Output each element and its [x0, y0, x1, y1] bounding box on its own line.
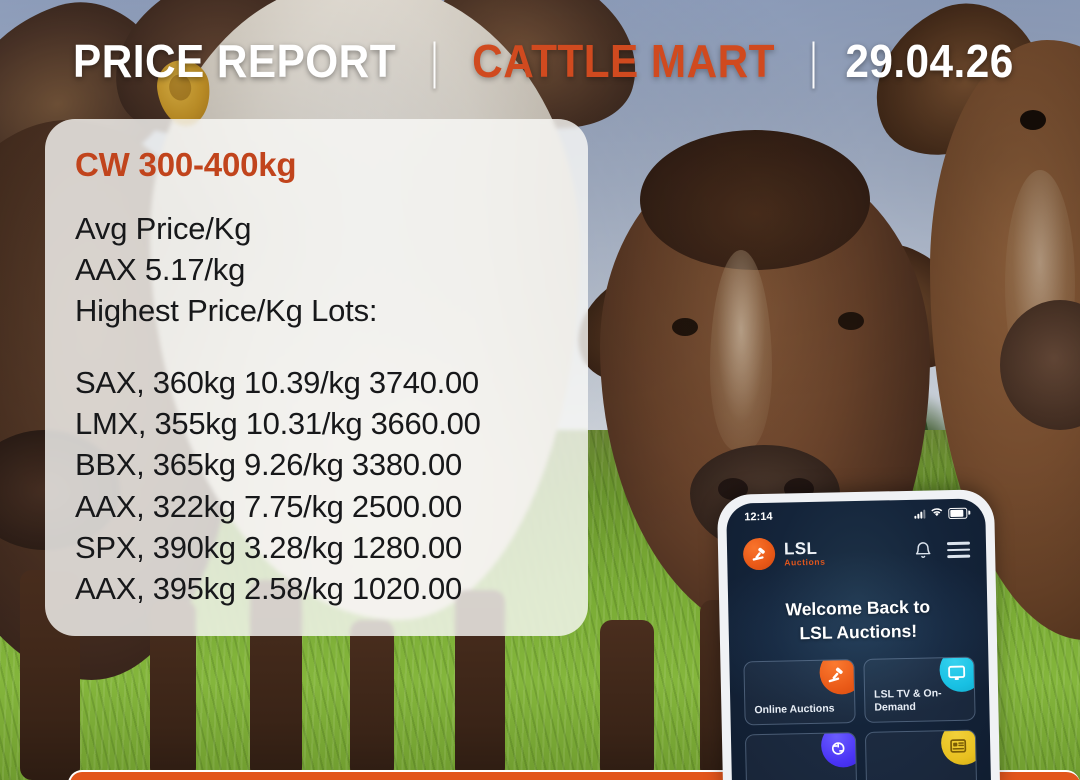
tile-label: LSL TV & On-Demand [874, 686, 969, 714]
summary-line-avg-price: Avg Price/Kg [75, 209, 554, 250]
phone-status-bar: 12:14 [726, 502, 985, 527]
lot-row: AAX, 322kg 7.75/kg 2500.00 [75, 486, 554, 527]
tile-livestock[interactable] [745, 732, 857, 780]
summary-line-highest-lots: Highest Price/Kg Lots: [75, 291, 554, 332]
status-time: 12:14 [744, 511, 772, 524]
signal-bars-icon [914, 509, 925, 518]
price-report-graphic: PRICE REPORT | CATTLE MART | 29.04.26 CW… [0, 0, 1080, 780]
tile-lsl-tv[interactable]: LSL TV & On-Demand [863, 657, 975, 723]
tile-news[interactable] [865, 730, 977, 780]
card-title: CW 300-400kg [75, 147, 554, 183]
center-cow-poll [640, 130, 870, 270]
app-tile-grid: Online Auctions LSL TV & On-Demand [743, 657, 977, 780]
brand-tagline: Auctions [784, 557, 825, 566]
header-separator-1: | [432, 32, 439, 90]
hamburger-menu-icon[interactable] [947, 542, 970, 558]
gavel-icon [819, 659, 856, 695]
phone-screen: 12:14 [726, 498, 991, 780]
phone-app-bar: LSL Auctions [727, 526, 987, 577]
center-cow-eye-left [672, 318, 698, 336]
lots-list: SAX, 360kg 10.39/kg 3740.00 LMX, 355kg 1… [75, 362, 554, 609]
gavel-logo-icon[interactable] [743, 538, 776, 571]
lot-row: SPX, 390kg 3.28/kg 1280.00 [75, 527, 554, 568]
header-title-left: PRICE REPORT [73, 38, 396, 84]
lot-row: AAX, 395kg 2.58/kg 1020.00 [75, 568, 554, 609]
lot-row: SAX, 360kg 10.39/kg 3740.00 [75, 362, 554, 403]
price-card: CW 300-400kg Avg Price/Kg AAX 5.17/kg Hi… [45, 119, 588, 636]
lot-row: LMX, 355kg 10.31/kg 3660.00 [75, 403, 554, 444]
tile-online-auctions[interactable]: Online Auctions [743, 659, 855, 725]
header-banner: PRICE REPORT | CATTLE MART | 29.04.26 [0, 28, 1080, 94]
battery-icon [948, 507, 967, 518]
phone-mockup: 12:14 [717, 489, 1000, 780]
summary-line-aax-avg: AAX 5.17/kg [75, 250, 554, 291]
wifi-icon [930, 507, 943, 520]
bell-icon[interactable] [914, 540, 932, 560]
header-date: 29.04.26 [845, 38, 1013, 84]
center-cow-eye-right [838, 312, 864, 330]
brand-lockup: LSL Auctions [784, 539, 826, 566]
right-cow-eye [1020, 110, 1046, 130]
lot-row: BBX, 365kg 9.26/kg 3380.00 [75, 444, 554, 485]
header-separator-2: | [810, 32, 817, 90]
news-icon [941, 730, 978, 766]
header-title-center: CATTLE MART [473, 38, 776, 84]
livestock-icon [821, 732, 858, 768]
tile-label: Online Auctions [754, 702, 848, 717]
welcome-heading: Welcome Back to LSL Auctions! [728, 594, 988, 647]
brand-name: LSL [784, 539, 826, 557]
